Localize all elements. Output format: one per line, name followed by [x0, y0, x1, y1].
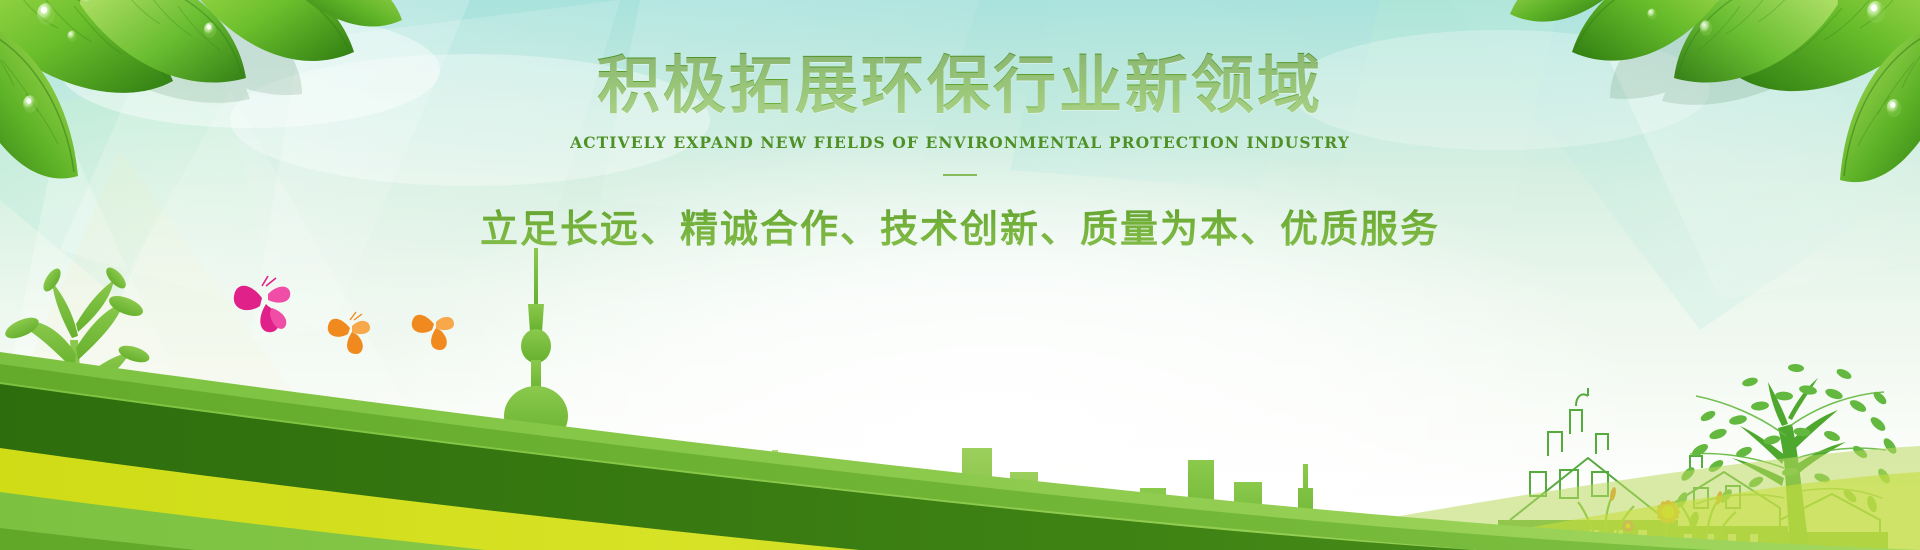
banner-text-block: 积极拓展环保行业新领域 ACTIVELY EXPAND NEW FIELDS O… — [0, 52, 1920, 253]
page-title: 积极拓展环保行业新领域 — [0, 52, 1920, 119]
divider — [943, 174, 977, 176]
page-subtitle-english: ACTIVELY EXPAND NEW FIELDS OF ENVIRONMEN… — [0, 133, 1920, 152]
wave-bands — [0, 320, 1920, 550]
slogan: 立足长远、精诚合作、技术创新、质量为本、优质服务 — [0, 198, 1920, 253]
eco-banner: 积极拓展环保行业新领域 ACTIVELY EXPAND NEW FIELDS O… — [0, 0, 1920, 550]
